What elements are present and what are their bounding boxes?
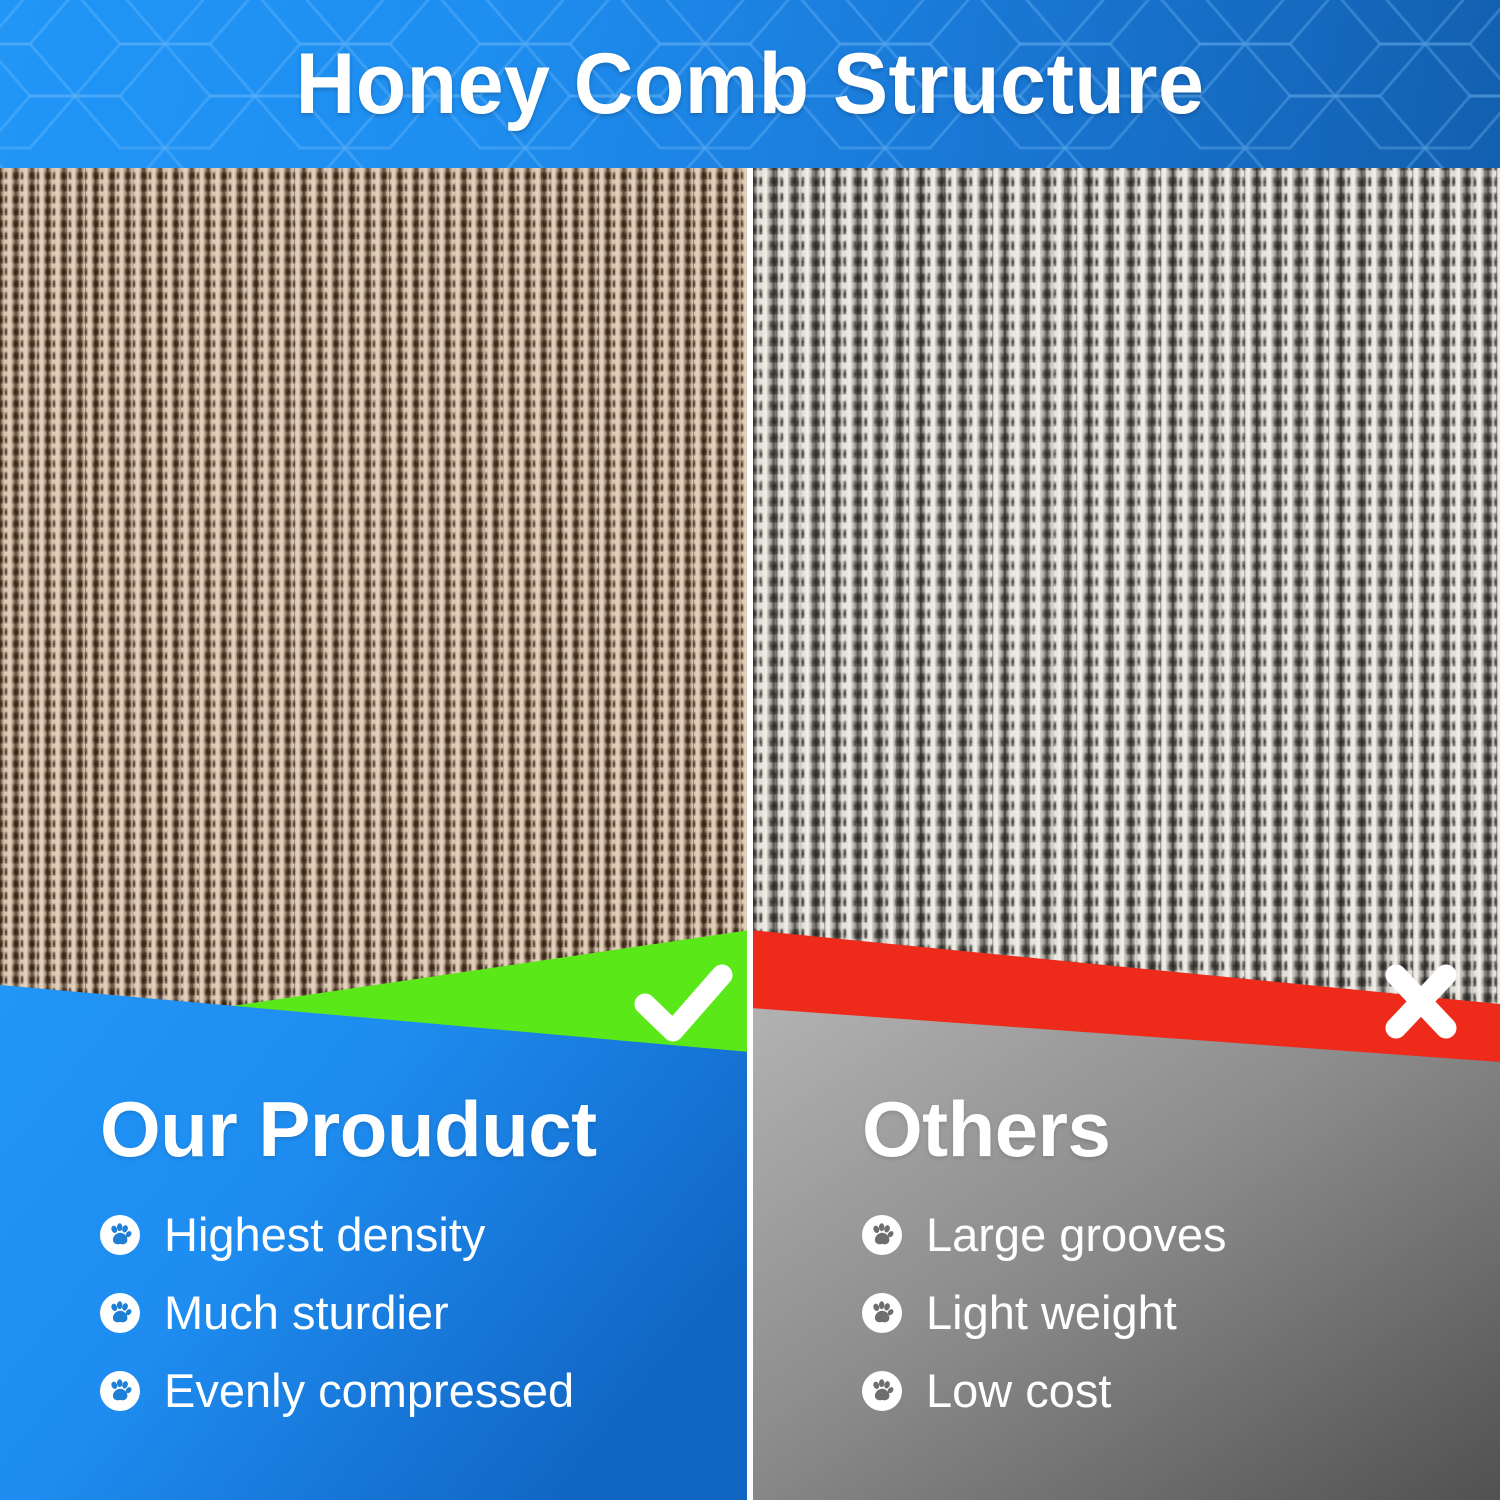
feature-item: Much sturdier (0, 1288, 750, 1339)
feature-label: Light weight (926, 1288, 1177, 1339)
paw-icon (862, 1293, 902, 1333)
column-title-others: Others (750, 1090, 1500, 1168)
feature-item: Light weight (750, 1288, 1500, 1339)
product-comparison-infographic: Honey Comb Structure (0, 0, 1500, 1500)
photo-others (750, 168, 1500, 1068)
feature-label: Much sturdier (164, 1288, 449, 1339)
feature-label: Evenly compressed (164, 1366, 574, 1417)
column-others: Others Large grooves (750, 1090, 1500, 1443)
feature-label: Low cost (926, 1366, 1111, 1417)
feature-item: Large grooves (750, 1210, 1500, 1261)
feature-item: Highest density (0, 1210, 750, 1261)
texture-photo-row (0, 168, 1500, 1068)
header-banner: Honey Comb Structure (0, 0, 1500, 168)
feature-item: Evenly compressed (0, 1366, 750, 1417)
paw-icon (862, 1371, 902, 1411)
paw-icon (862, 1215, 902, 1255)
paw-icon (100, 1293, 140, 1333)
feature-label: Large grooves (926, 1210, 1226, 1261)
dense-cardboard-texture-icon (0, 168, 750, 1068)
column-our-product: Our Prouduct Highest density (0, 1090, 750, 1443)
column-title-our-product: Our Prouduct (0, 1090, 750, 1168)
coarse-cardboard-texture-icon (750, 168, 1500, 1068)
paw-icon (100, 1371, 140, 1411)
paw-icon (100, 1215, 140, 1255)
photo-our-product (0, 168, 750, 1068)
feature-label: Highest density (164, 1210, 485, 1261)
page-title: Honey Comb Structure (30, 0, 1470, 168)
feature-item: Low cost (750, 1366, 1500, 1417)
